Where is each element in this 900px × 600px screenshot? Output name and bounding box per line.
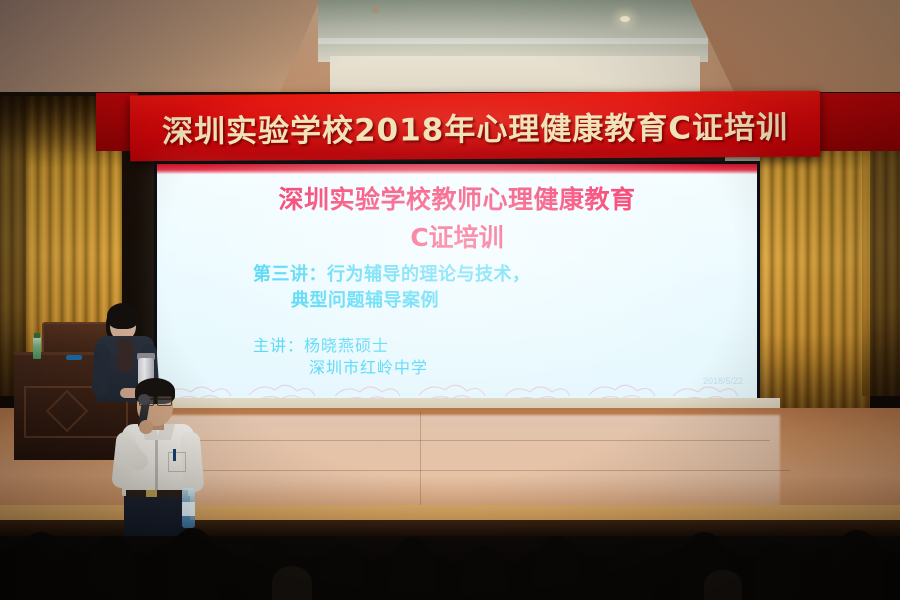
pen-icon [173,449,176,461]
audience-member [390,538,436,600]
audience-member [168,528,218,600]
audience-member [832,530,882,600]
slide-subtitle-line1: 第三讲：行为辅导的理论与技术， [253,260,531,286]
audience-member [704,570,742,600]
speaker-belt [126,490,188,497]
microphone-head-icon [138,394,150,405]
event-banner: 深圳实验学校2018年心理健康教育C证培训 [130,91,820,162]
led-screen-frame: 深圳实验学校教师心理健康教育 C证培训 第三讲：行为辅导的理论与技术， 典型问题… [154,161,760,407]
slide-subtitle-line2: 典型问题辅导案例 [291,286,439,312]
presenter-inner-top [117,338,133,372]
ceiling-left-panel [0,0,320,92]
audience-member [754,542,800,600]
presenter-hair [107,303,139,329]
audience-member [16,532,66,600]
stage-floor-seam [420,412,421,508]
audience-member [320,544,364,600]
audience-rows [0,500,900,600]
presenter-left-arm [92,344,111,397]
speaker-shirt-pocket [168,452,186,472]
slide-title-line1: 深圳实验学校教师心理健康教育 [157,180,757,216]
audience-member [462,546,506,600]
water-bottle-on-desk [33,337,41,359]
ceiling-soffit-line [318,38,708,44]
speaker-shirt-placket [155,436,158,494]
ceiling-light-icon [620,16,630,22]
auditorium-photo: 深圳实验学校2018年心理健康教育C证培训 深圳实验学校教师心理健康教育 C证培… [0,0,900,600]
banner-title-text: 深圳实验学校2018年心理健康教育C证培训 [162,101,788,150]
slide-top-bar [157,164,757,174]
audience-member [608,544,652,600]
speaker-hand [139,420,153,434]
audience-member [88,536,136,600]
banner-tail-right [816,93,900,151]
water-bottle-cap [34,333,40,338]
stage-floor-seam [150,440,770,441]
stage-floor-seam [130,470,790,471]
audience-member [272,566,312,600]
ceiling-fixture-icon [372,6,379,13]
audience-member [534,536,580,600]
presentation-slide: 深圳实验学校教师心理健康教育 C证培训 第三讲：行为辅导的理论与技术， 典型问题… [157,164,757,404]
slide-speaker-name: 主讲：杨晓燕硕士 [253,332,389,356]
slide-title-line2: C证培训 [157,218,757,254]
desk-accessory [66,355,82,360]
belt-buckle-icon [146,490,157,497]
